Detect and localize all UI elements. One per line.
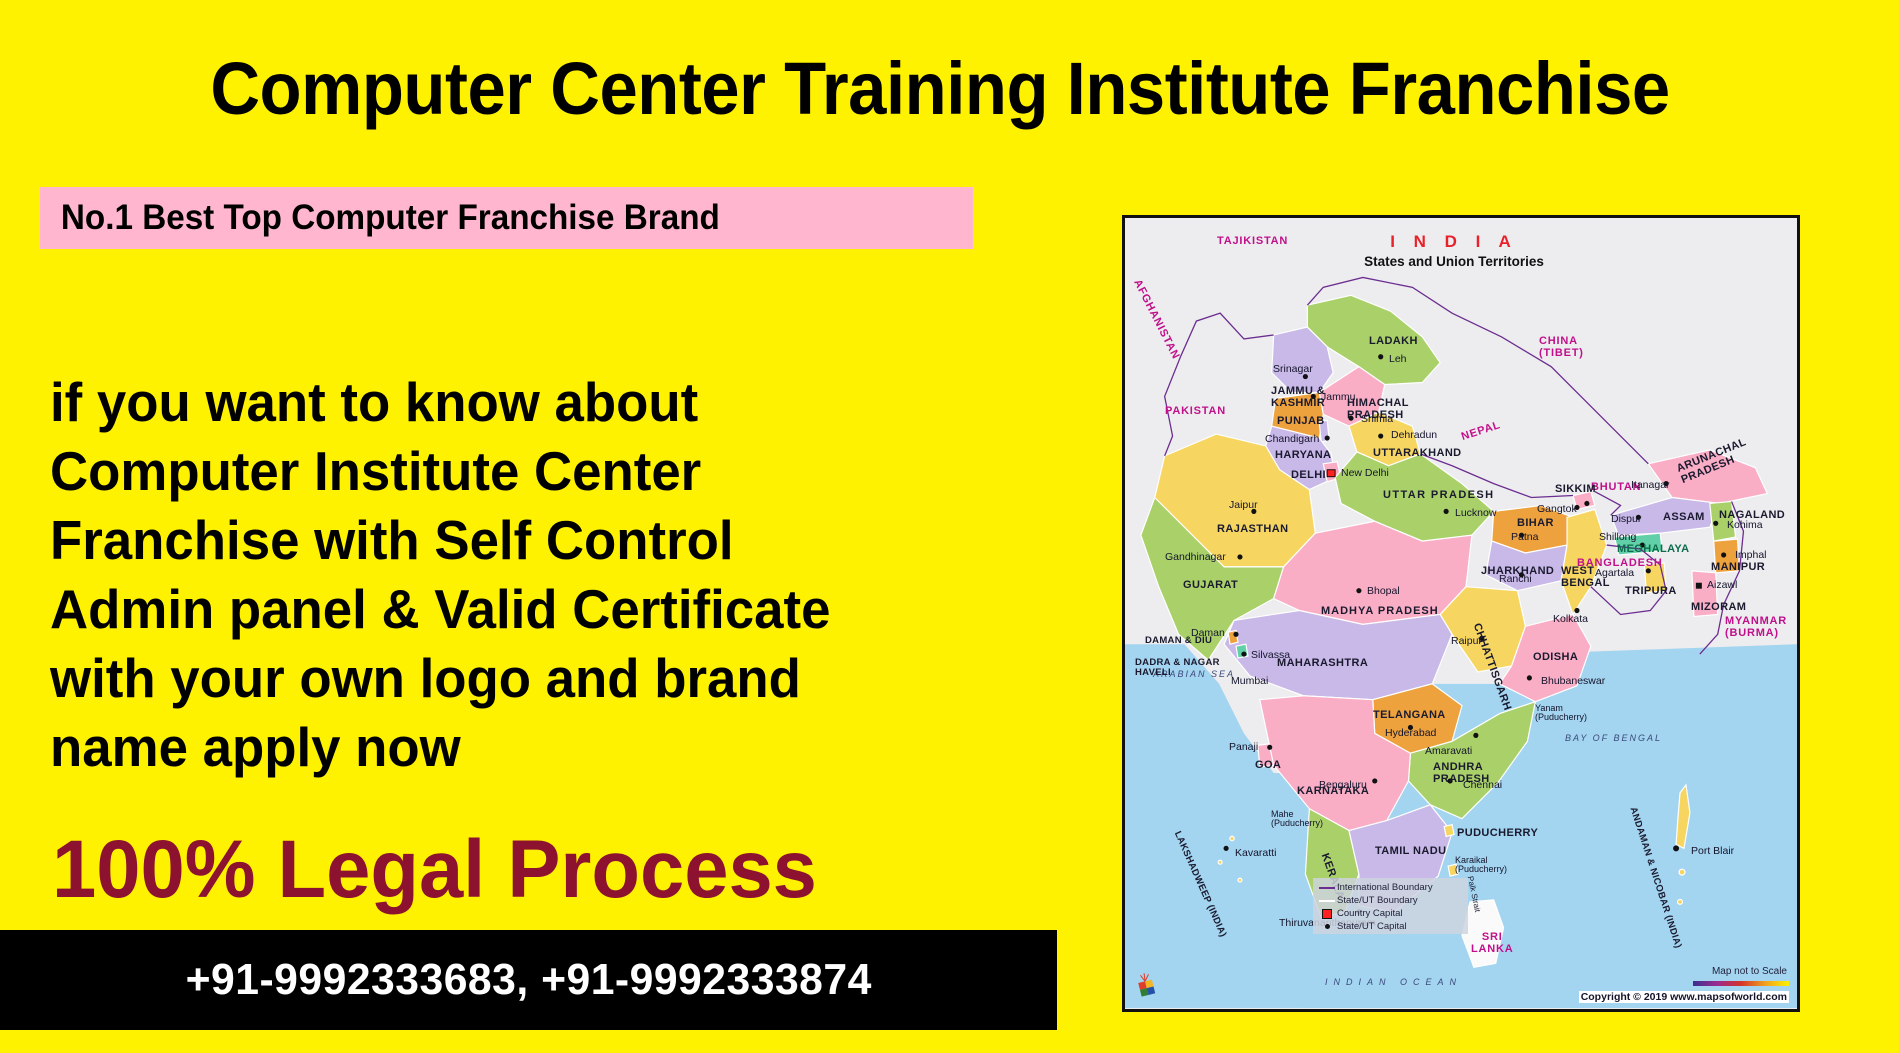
state-boundary-icon [1317,900,1337,902]
phone-numbers: +91-9992333683, +91-9992333874 [185,955,871,1005]
map-legend: International Boundary State/UT Boundary… [1313,878,1468,934]
body-line: Computer Institute Center [50,437,1020,506]
map-scale-bar [1693,981,1789,986]
body-copy: if you want to know about Computer Insti… [50,368,1020,782]
country-capital-icon [1317,909,1337,919]
legend-label: Country Capital [1337,908,1402,919]
body-line: with your own logo and brand [50,644,1020,713]
map-title-country: I N D I A [1125,232,1783,252]
body-line: if you want to know about [50,368,1020,437]
legend-row: Country Capital [1317,907,1464,920]
map-copyright: Copyright © 2019 www.mapsofworld.com [1579,991,1789,1003]
india-map-panel: I N D I A States and Union Territories T… [1122,215,1800,1012]
sub-banner: No.1 Best Top Computer Franchise Brand [40,187,973,249]
body-line: name apply now [50,713,1020,782]
legend-row: State/UT Capital [1317,920,1464,933]
map-title: I N D I A States and Union Territories [1125,232,1783,269]
legend-label: International Boundary [1337,882,1433,893]
page-title: Computer Center Training Institute Franc… [66,52,1814,126]
sub-banner-label: No.1 Best Top Computer Franchise Brand [40,198,720,238]
legal-process-tagline: 100% Legal Process [52,827,817,913]
phone-number-bar[interactable]: +91-9992333683, +91-9992333874 [0,930,1057,1030]
state-capital-icon [1317,924,1337,929]
legend-row: State/UT Boundary [1317,894,1464,907]
international-boundary-icon [1317,887,1337,889]
legend-label: State/UT Boundary [1337,895,1418,906]
map-title-subtitle: States and Union Territories [1125,254,1783,269]
body-line: Franchise with Self Control [50,506,1020,575]
legend-row: International Boundary [1317,881,1464,894]
map-scale-note: Map not to Scale [1712,966,1787,977]
promo-flyer: { "headline": "Computer Center Training … [0,0,1899,1053]
legend-label: State/UT Capital [1337,921,1407,932]
mapsofworld-logo-icon [1133,971,1161,999]
body-line: Admin panel & Valid Certificate [50,575,1020,644]
